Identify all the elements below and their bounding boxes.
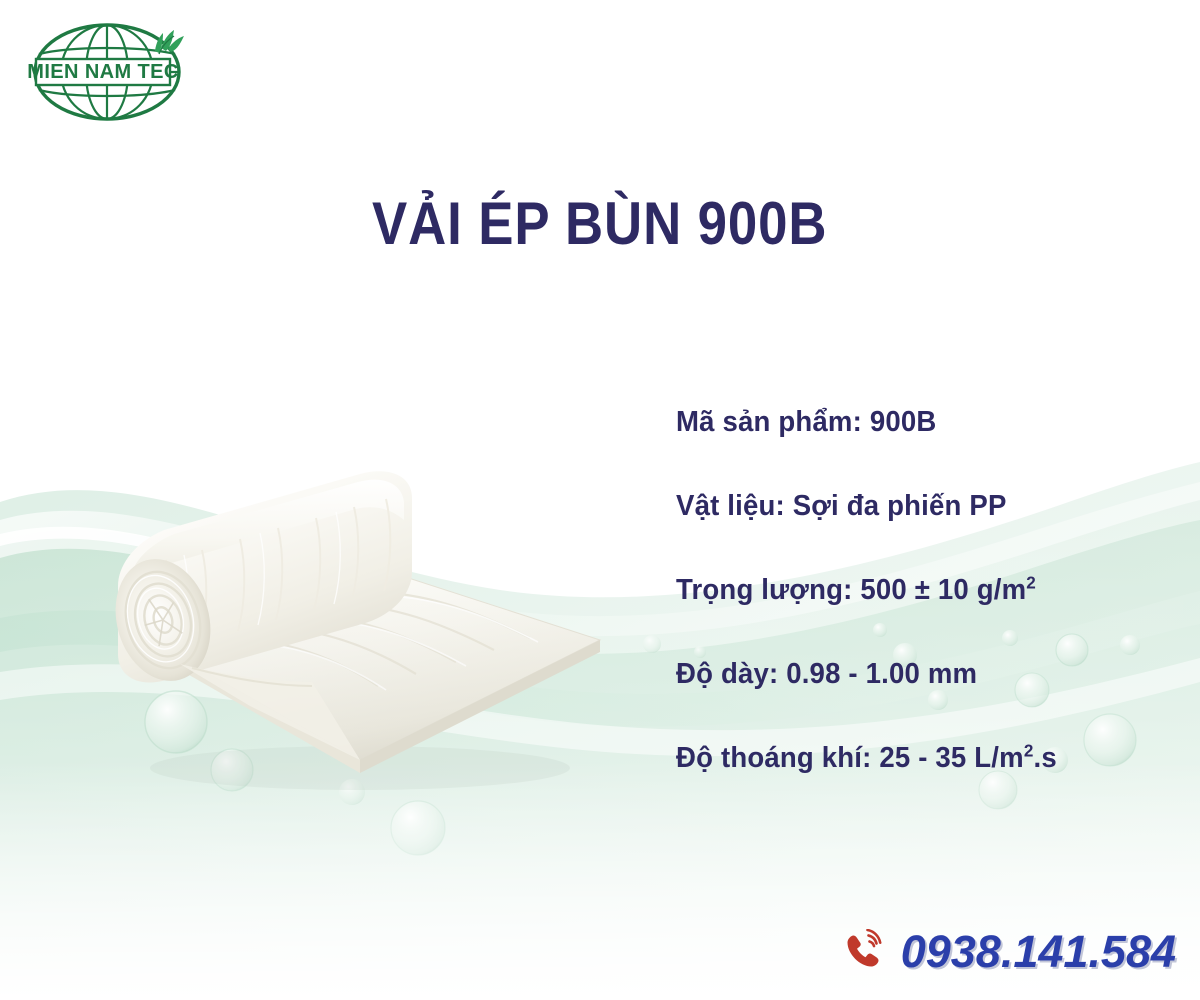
phone-number[interactable]: 0938.141.584 (901, 926, 1176, 978)
page-title-text: VẢI ÉP BÙN 900B (372, 190, 827, 257)
contact-block[interactable]: 0938.141.584 (841, 926, 1176, 978)
phone-call-icon (841, 929, 887, 975)
spec-row-thickness: Độ dày: 0.98 - 1.00 mm (676, 632, 1176, 716)
fabric-roll-image (60, 468, 630, 808)
spec-list: Mã sản phẩm: 900B Vật liệu: Sợi đa phiến… (676, 380, 1176, 800)
logo-text: MIEN NAM TEC (27, 61, 178, 83)
spec-text-weight: Trọng lượng: 500 ± 10 g/m2 (676, 574, 1036, 607)
spec-air-main: Độ thoáng khí: 25 - 35 L/m (676, 742, 1024, 774)
spec-row-weight: Trọng lượng: 500 ± 10 g/m2 (676, 548, 1176, 632)
page-title: VẢI ÉP BÙN 900B (0, 190, 1200, 257)
logo-text-banner: MIEN NAM TEC (27, 59, 178, 85)
spec-text-air-permeability: Độ thoáng khí: 25 - 35 L/m2.s (676, 742, 1057, 775)
spec-weight-sup: 2 (1026, 572, 1036, 592)
spec-row-material: Vật liệu: Sợi đa phiến PP (676, 464, 1176, 548)
spec-text-thickness: Độ dày: 0.98 - 1.00 mm (676, 658, 977, 691)
spec-air-tail: .s (1034, 742, 1057, 774)
spec-row-air-permeability: Độ thoáng khí: 25 - 35 L/m2.s (676, 716, 1176, 800)
spec-weight-main: Trọng lượng: 500 ± 10 g/m (676, 574, 1026, 606)
spec-air-sup: 2 (1024, 740, 1034, 760)
spec-row-product-code: Mã sản phẩm: 900B (676, 380, 1176, 464)
product-poster: MIEN NAM TEC VẢI ÉP BÙN 900B (0, 0, 1200, 1000)
brand-logo[interactable]: MIEN NAM TEC (22, 18, 198, 126)
spec-text-product-code: Mã sản phẩm: 900B (676, 406, 936, 439)
spec-text-material: Vật liệu: Sợi đa phiến PP (676, 490, 1007, 523)
